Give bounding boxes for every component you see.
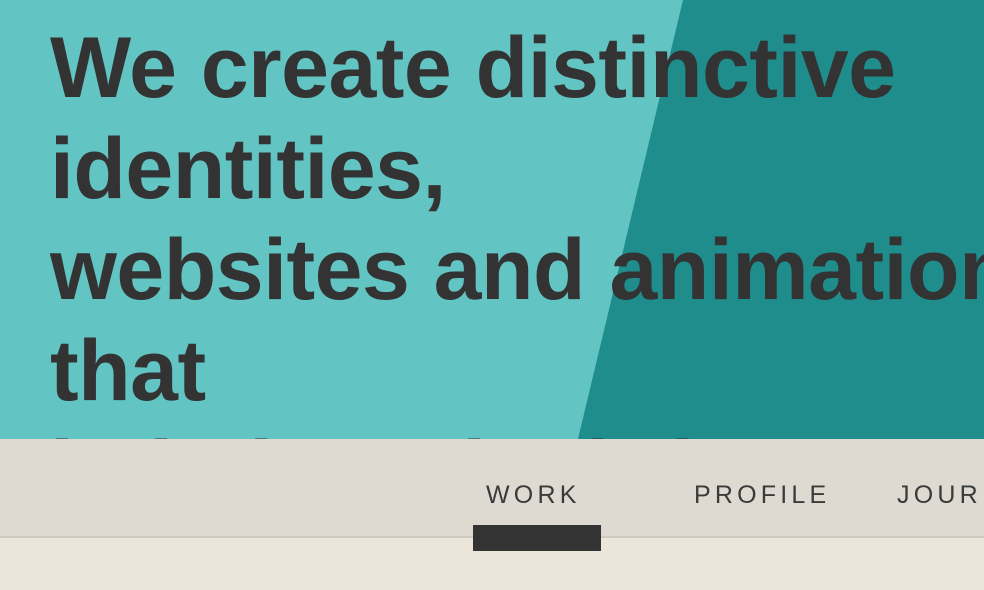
nav-item-journal[interactable]: JOUR (897, 482, 982, 508)
nav-item-list: WORK PROFILE JOUR (0, 439, 984, 536)
main-navigation: WORK PROFILE JOUR (0, 439, 984, 536)
nav-item-work[interactable]: WORK (486, 482, 581, 508)
nav-item-profile[interactable]: PROFILE (694, 482, 830, 508)
page-root: We create distinctive identities, websit… (0, 0, 984, 590)
hero-heading: We create distinctive identities, websit… (50, 18, 984, 439)
hero-section: We create distinctive identities, websit… (0, 0, 984, 439)
nav-active-indicator (473, 525, 601, 551)
